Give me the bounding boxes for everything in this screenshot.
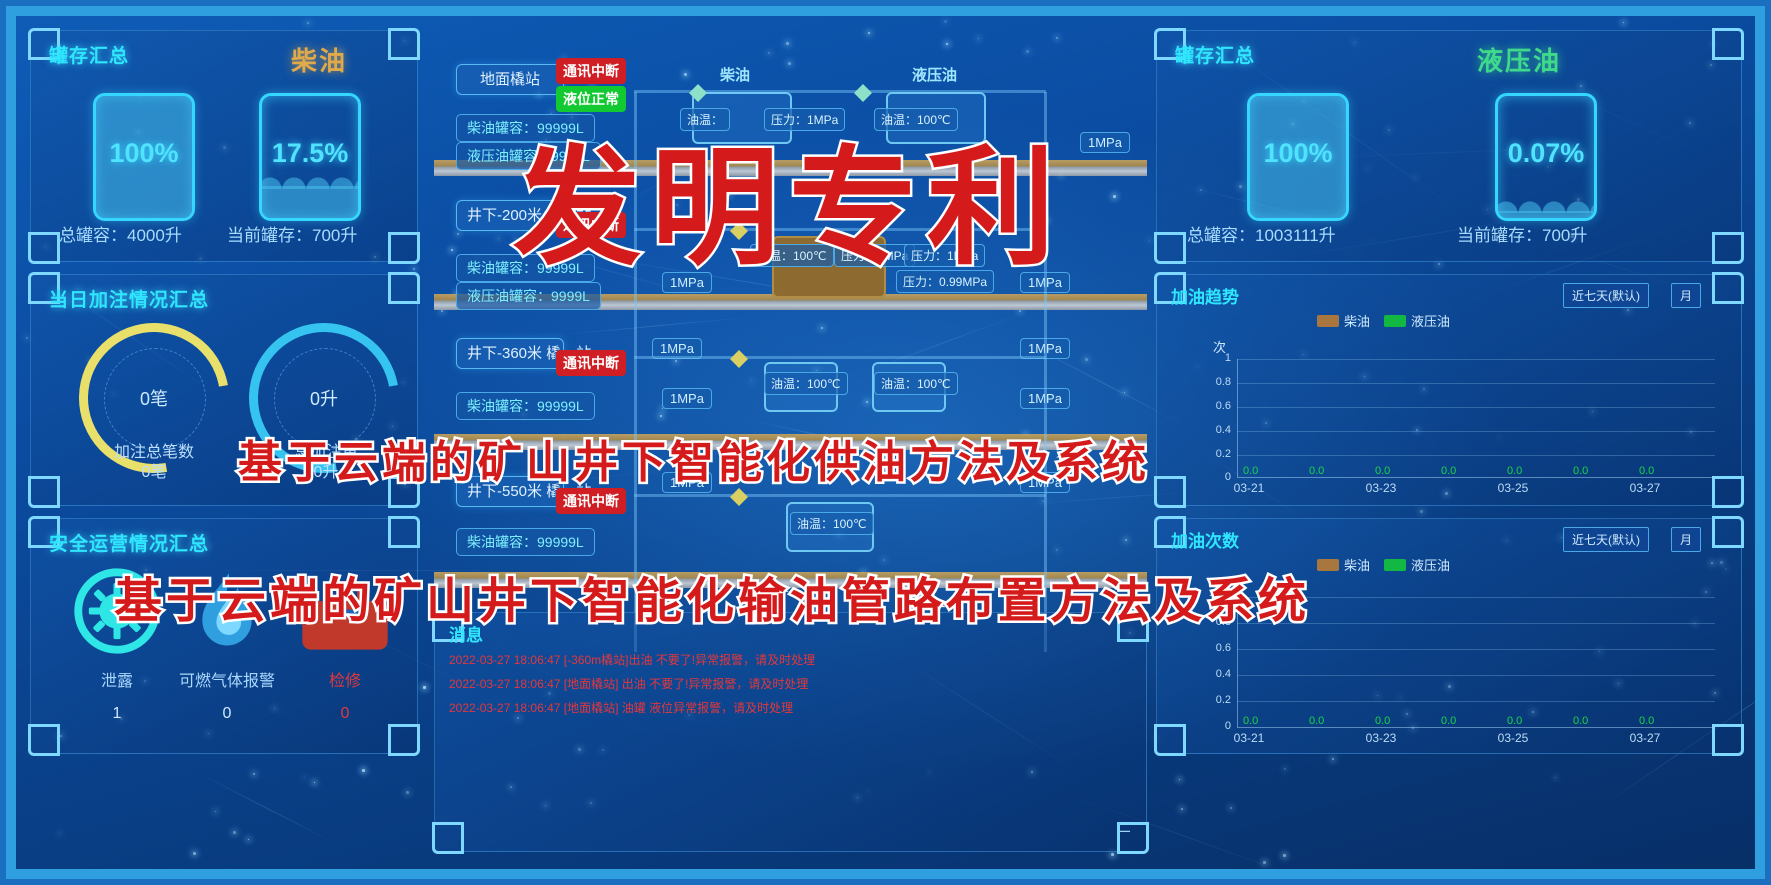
dashboard-stage: 罐存汇总 柴油 100% 17.5% 总罐容：4000升 当前罐存：700升 当…: [0, 0, 1771, 885]
outer-frame-decoration: [0, 0, 1771, 885]
